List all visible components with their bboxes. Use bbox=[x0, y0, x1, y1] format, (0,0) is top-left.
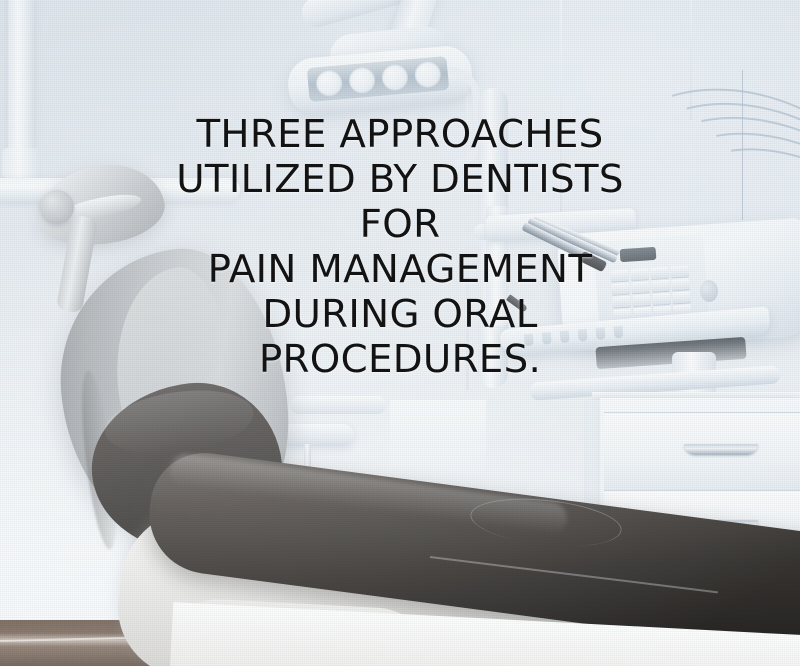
headline-line-6: PROCEDURES. bbox=[0, 337, 800, 382]
headline-text-block: THREE APPROACHES UTILIZED BY DENTISTS FO… bbox=[0, 112, 800, 382]
light-lens-icon bbox=[347, 66, 375, 94]
tray-stand-upper bbox=[290, 396, 386, 414]
headline-line-1: THREE APPROACHES bbox=[0, 112, 800, 157]
headline-line-4: PAIN MANAGEMENT bbox=[0, 247, 800, 292]
headline-line-5: DURING ORAL bbox=[0, 292, 800, 337]
headline-line-3: FOR bbox=[0, 202, 800, 247]
light-lens-icon bbox=[315, 69, 343, 97]
light-lens-icon bbox=[413, 61, 441, 89]
image-canvas: THREE APPROACHES UTILIZED BY DENTISTS FO… bbox=[0, 0, 800, 666]
drawer-handle-icon bbox=[684, 444, 758, 455]
light-lens-icon bbox=[380, 63, 408, 91]
headline-line-2: UTILIZED BY DENTISTS bbox=[0, 157, 800, 202]
